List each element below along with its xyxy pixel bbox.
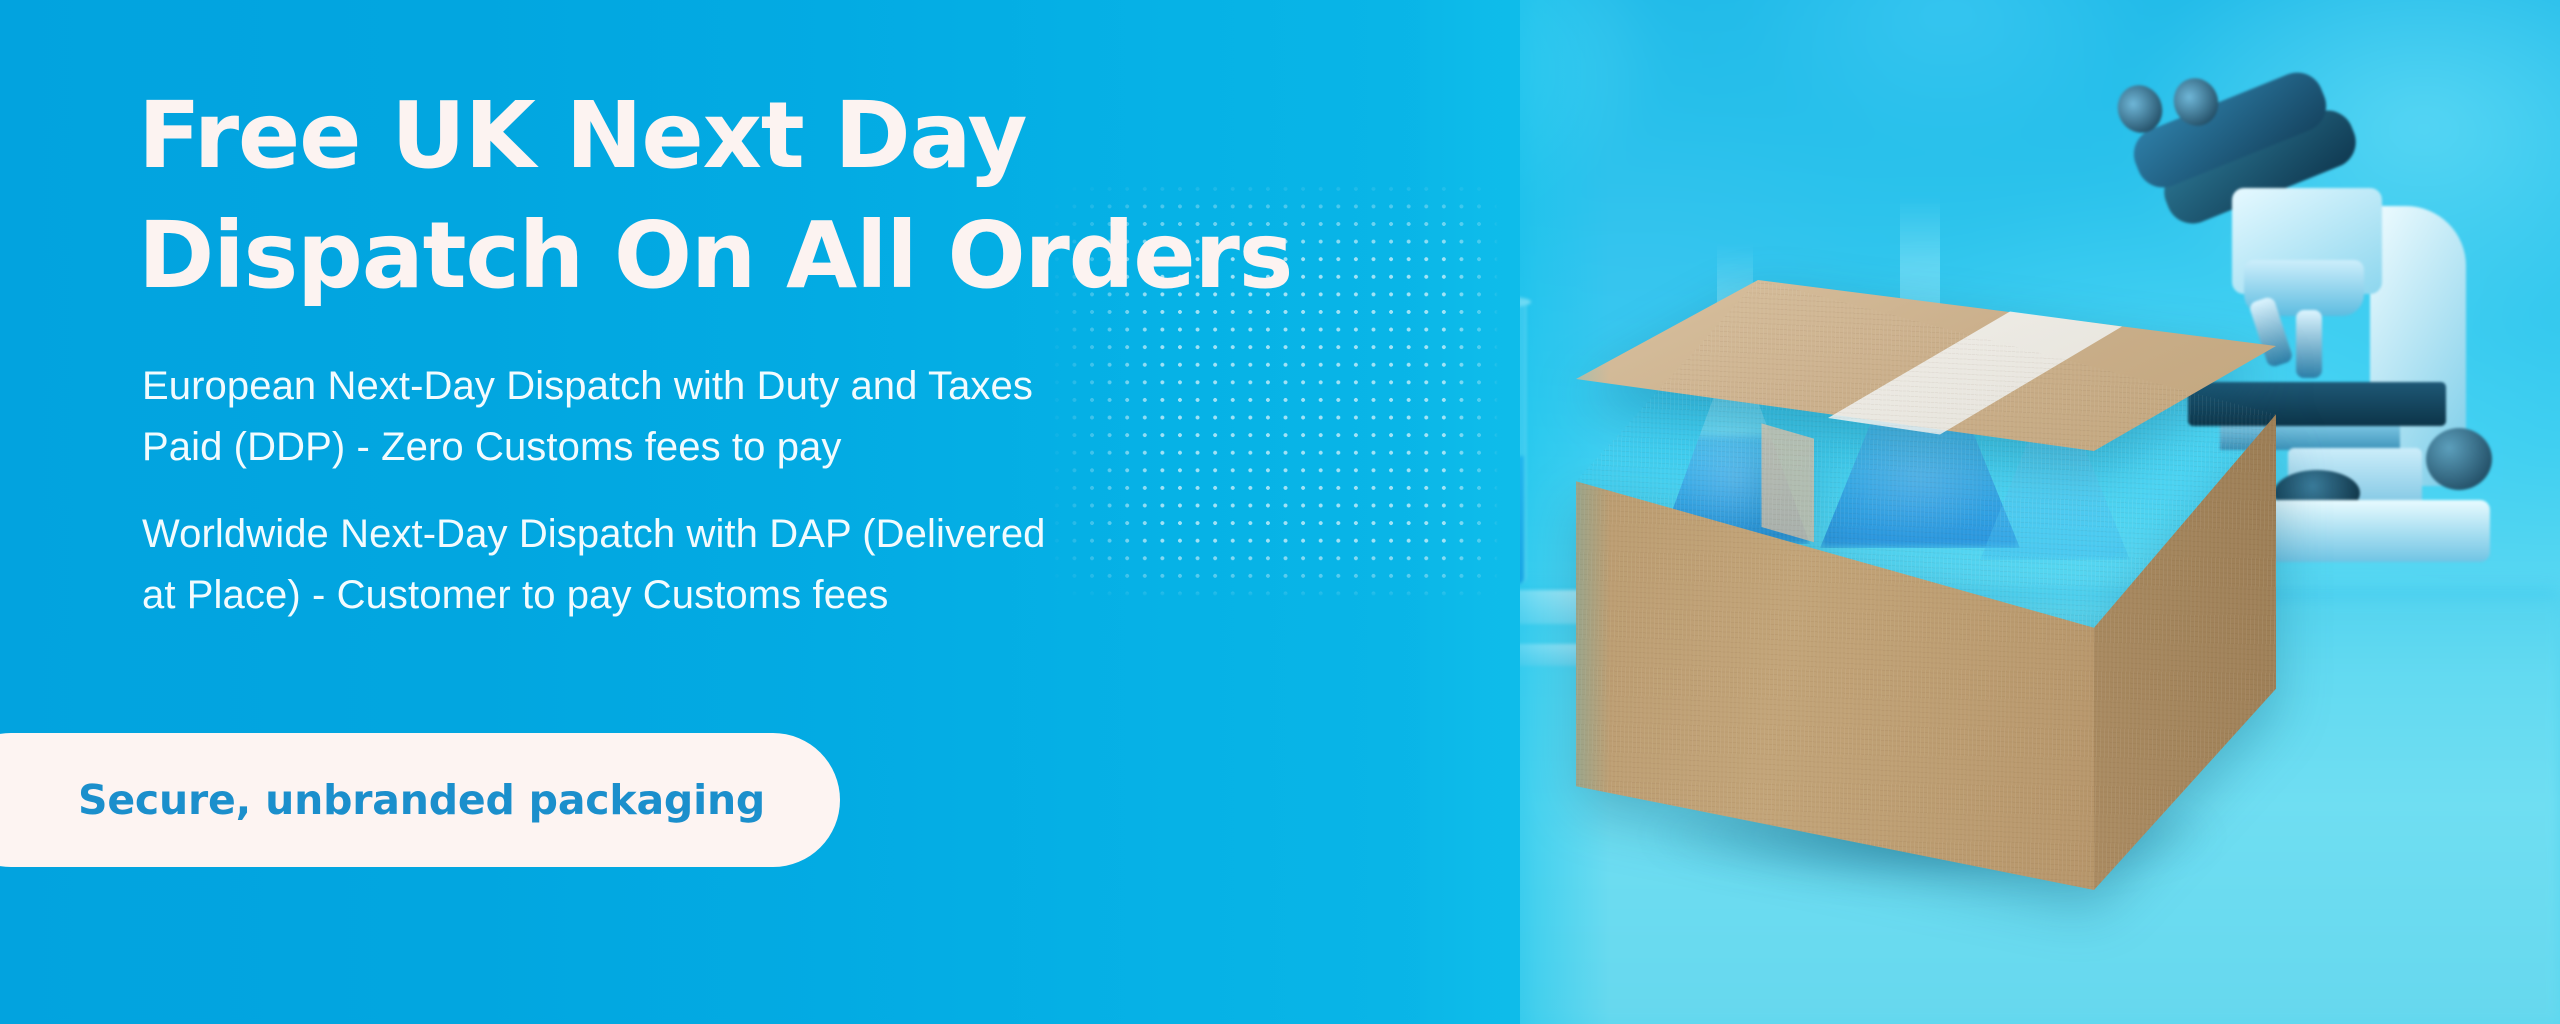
cardboard-box-icon (1576, 280, 2276, 890)
paragraph-2-line-2: at Place) - Customer to pay Customs fees (142, 565, 1452, 626)
dispatch-paragraph-europe: European Next-Day Dispatch with Duty and… (142, 356, 1452, 478)
paragraph-1-line-1: European Next-Day Dispatch with Duty and… (142, 356, 1452, 417)
paragraph-1-line-2: Paid (DDP) - Zero Customs fees to pay (142, 417, 1452, 478)
packaging-badge: Secure, unbranded packaging (0, 733, 840, 867)
promo-banner: Free UK Next Day Dispatch On All Orders … (0, 0, 2560, 1024)
paragraph-2-line-1: Worldwide Next-Day Dispatch with DAP (De… (142, 504, 1452, 565)
packaging-badge-label: Secure, unbranded packaging (78, 776, 765, 824)
banner-content: Free UK Next Day Dispatch On All Orders … (0, 0, 1520, 1024)
dispatch-paragraph-worldwide: Worldwide Next-Day Dispatch with DAP (De… (142, 504, 1452, 626)
page-title: Free UK Next Day Dispatch On All Orders (138, 76, 1478, 315)
headline-line-1: Free UK Next Day (138, 76, 1478, 196)
headline-line-2: Dispatch On All Orders (138, 196, 1478, 316)
